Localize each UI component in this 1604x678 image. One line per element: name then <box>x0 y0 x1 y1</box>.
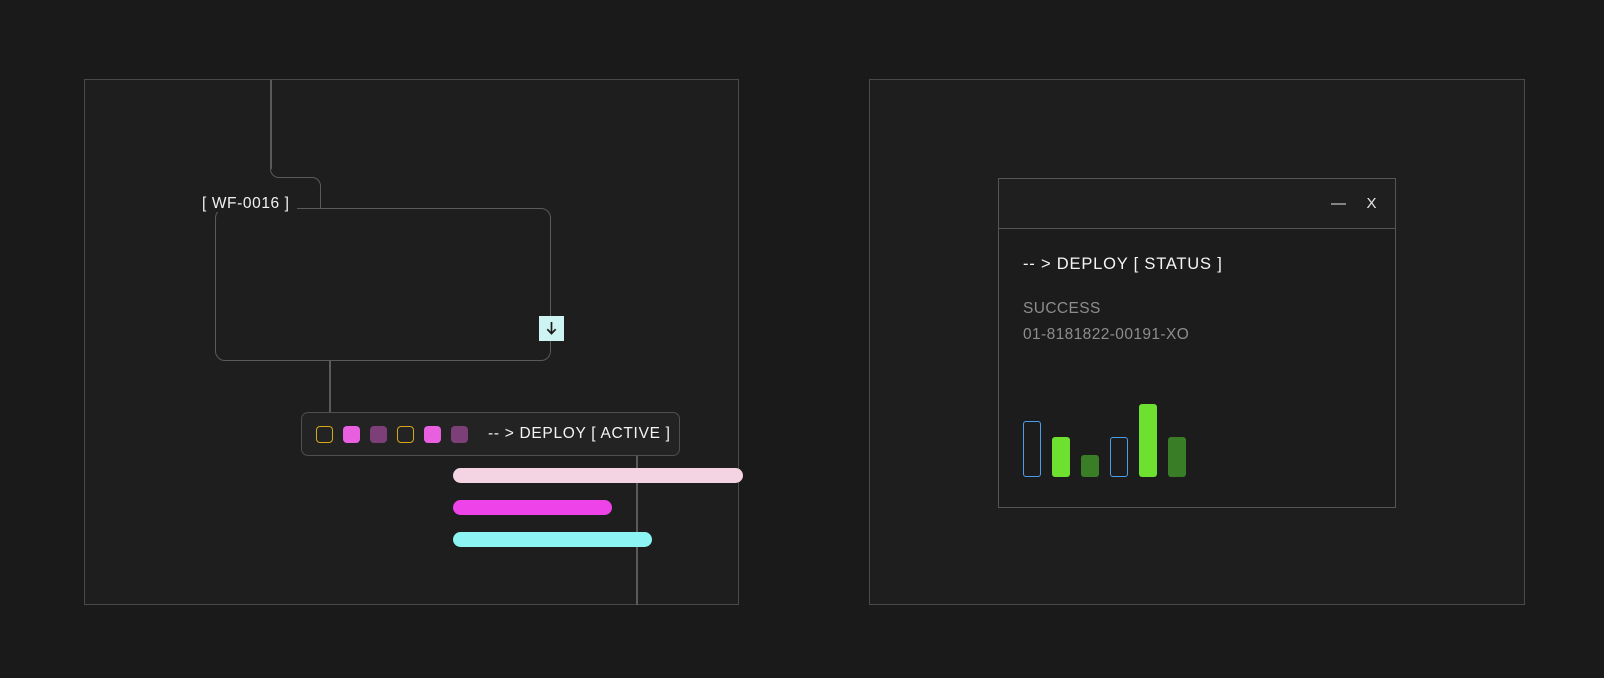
close-button[interactable]: X <box>1364 196 1379 211</box>
connector-card-to-deploy <box>329 360 331 413</box>
workflow-pill-tertiary <box>453 532 652 547</box>
deploy-bar-chart <box>1023 382 1213 477</box>
deploy-node-label: -- > DEPLOY [ ACTIVE ] <box>488 425 671 443</box>
deploy-chip-4 <box>397 426 414 443</box>
deploy-chip-3 <box>370 426 387 443</box>
deploy-chip-6 <box>451 426 468 443</box>
diagram-canvas: [ WF-0016 ] -- > DEPLOY [ ACTIVE ] — X -… <box>0 0 1604 678</box>
chart-plot-area <box>1023 382 1213 477</box>
chart-bar <box>1139 404 1157 477</box>
chart-bar <box>1168 437 1186 477</box>
deploy-status-window: — X -- > DEPLOY [ STATUS ] SUCCESS 01-81… <box>998 178 1396 508</box>
workflow-card[interactable] <box>215 208 551 361</box>
deploy-reference-id: 01-8181822-00191-XO <box>1023 322 1371 348</box>
deploy-chip-2 <box>343 426 360 443</box>
window-heading: -- > DEPLOY [ STATUS ] <box>1023 255 1371 274</box>
chart-bar <box>1110 437 1128 477</box>
window-titlebar[interactable]: — X <box>999 179 1395 229</box>
download-button[interactable] <box>539 316 564 341</box>
workflow-pill-secondary <box>453 500 612 515</box>
deploy-chip-5 <box>424 426 441 443</box>
workflow-pill-primary <box>453 468 743 483</box>
minimize-button[interactable]: — <box>1331 196 1346 211</box>
chart-bar <box>1052 437 1070 477</box>
arrow-down-icon <box>545 321 558 336</box>
window-body: -- > DEPLOY [ STATUS ] SUCCESS 01-818182… <box>999 229 1395 507</box>
chart-bar <box>1023 421 1041 477</box>
connector-card-entry <box>320 185 322 209</box>
deploy-status-value: SUCCESS <box>1023 296 1371 322</box>
deploy-node[interactable]: -- > DEPLOY [ ACTIVE ] <box>301 412 680 456</box>
chart-bar <box>1081 455 1099 477</box>
connector-top-vertical <box>270 80 272 169</box>
deploy-chip-1 <box>316 426 333 443</box>
workflow-card-label: [ WF-0016 ] <box>195 196 297 212</box>
connector-top-horizontal <box>279 177 312 179</box>
